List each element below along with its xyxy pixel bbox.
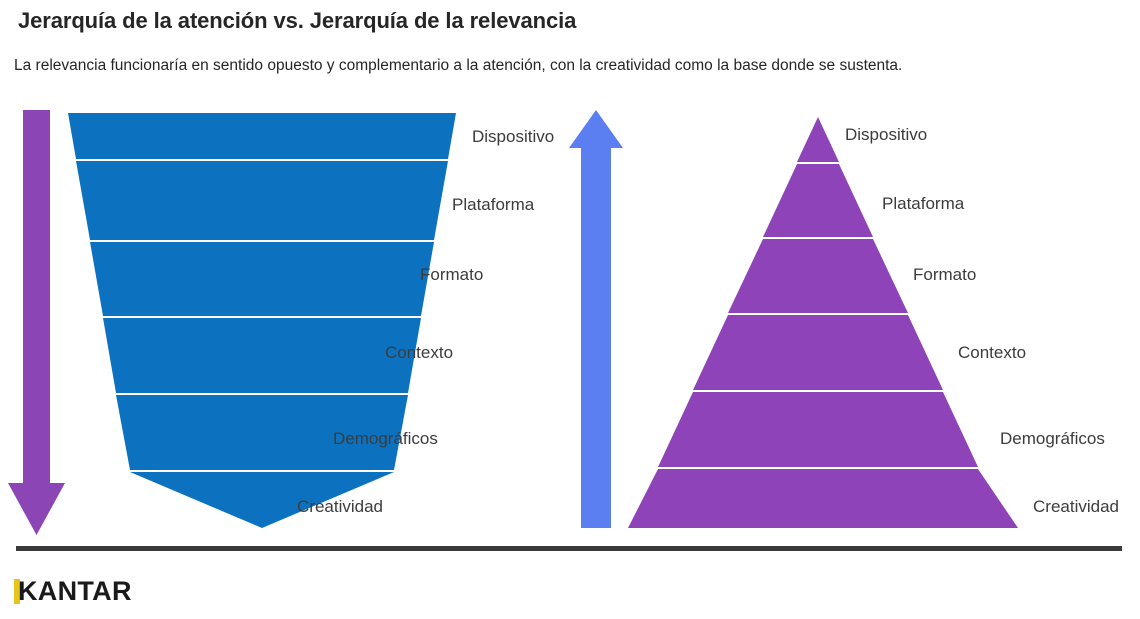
funnel-segment-plataforma[interactable]: [76, 161, 448, 240]
funnel-label-formato: Formato: [420, 266, 483, 283]
funnel-segment-formato[interactable]: [90, 242, 434, 316]
pyramid-label-creatividad: Creatividad: [1033, 498, 1119, 515]
footer-divider: [16, 546, 1122, 551]
funnel-label-contexto: Contexto: [385, 344, 453, 361]
diagram-canvas: Dispositivo Plataforma Formato Contexto …: [0, 100, 1140, 545]
pyramid-label-dispositivo: Dispositivo: [845, 126, 927, 143]
attention-arrow-icon: [8, 110, 65, 535]
pyramid-label-contexto: Contexto: [958, 344, 1026, 361]
relevance-arrow-icon: [569, 110, 623, 528]
pyramid-segment-creatividad[interactable]: [628, 469, 1018, 528]
funnel-segment-contexto[interactable]: [103, 318, 421, 393]
page-subtitle: La relevancia funcionaría en sentido opu…: [14, 57, 1134, 75]
pyramid-label-demograficos: Demográficos: [1000, 430, 1105, 447]
attention-funnel: [68, 113, 456, 528]
kantar-logo: KANTAR: [14, 576, 132, 606]
funnel-label-creatividad: Creatividad: [297, 498, 383, 515]
pyramid-label-plataforma: Plataforma: [882, 195, 964, 212]
funnel-label-demograficos: Demográficos: [333, 430, 438, 447]
page-title: Jerarquía de la atención vs. Jerarquía d…: [18, 8, 1118, 34]
funnel-segment-dispositivo[interactable]: [68, 113, 456, 159]
pyramid-segment-formato[interactable]: [728, 239, 908, 313]
pyramid-segment-demograficos[interactable]: [658, 392, 978, 467]
pyramid-label-formato: Formato: [913, 266, 976, 283]
pyramid-segment-dispositivo[interactable]: [797, 117, 839, 162]
funnel-label-plataforma: Plataforma: [452, 196, 534, 213]
diagram-svg: [0, 100, 1140, 545]
pyramid-segment-plataforma[interactable]: [763, 164, 873, 237]
kantar-wordmark: KANTAR: [18, 578, 132, 605]
relevance-pyramid: [628, 117, 1018, 528]
pyramid-segment-contexto[interactable]: [693, 315, 943, 390]
funnel-label-dispositivo: Dispositivo: [472, 128, 554, 145]
